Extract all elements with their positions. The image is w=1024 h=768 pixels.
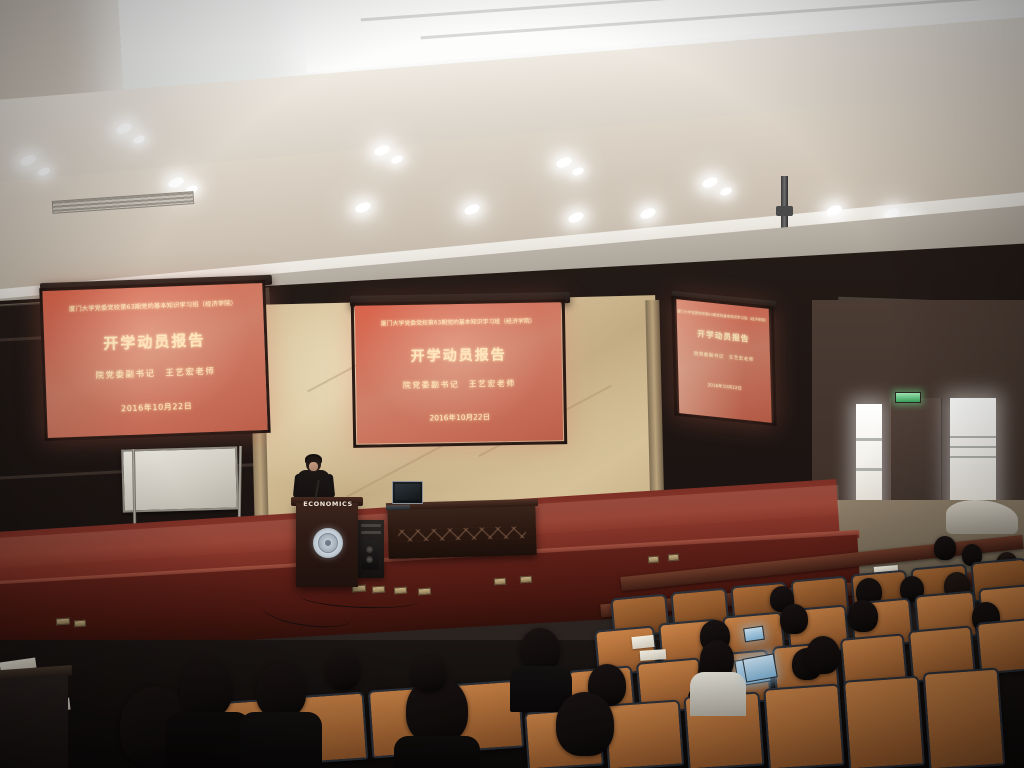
keyboard[interactable] (386, 505, 410, 511)
projector-pole-collar (776, 206, 793, 216)
audience-head (934, 536, 956, 560)
auditorium-seat[interactable] (976, 617, 1024, 674)
audience-head (556, 692, 614, 756)
slide-date-text: 2016年10月22日 (357, 410, 563, 425)
center-projection-screen: 厦门大学党委党校第63期党的基本知识学习班（经济学院） 开学动员报告 院党委副书… (355, 302, 563, 444)
audience-head (848, 600, 878, 632)
speaker-face (309, 462, 318, 471)
monitor-screen (395, 484, 420, 500)
window-mullion (950, 456, 996, 458)
auditorium-seat[interactable] (923, 667, 1006, 768)
audience-head (412, 656, 446, 692)
rack-slot (361, 531, 381, 534)
printed-handout (640, 649, 667, 661)
slide-title-text: 开学动员报告 (356, 343, 562, 367)
stage-floor-outlet (494, 578, 506, 586)
audience-shoulders (166, 712, 250, 768)
audience-head (806, 636, 840, 674)
auditorium-seat[interactable] (843, 675, 925, 768)
window-mullion (950, 446, 996, 448)
window-mullion (950, 436, 996, 438)
audience-shoulders (240, 712, 322, 768)
stage-floor-outlet (668, 554, 679, 562)
window-mullion (856, 438, 882, 441)
exit-sign-icon (895, 392, 921, 403)
audience-shoulders (394, 736, 480, 768)
slide-presenter-text: 院党委副书记 王艺宏老师 (678, 349, 771, 365)
slide-header-text: 厦门大学党委党校第63期党的基本知识学习班（经济学院） (43, 297, 263, 314)
mobile-whiteboard (121, 446, 239, 512)
slide-date-text: 2016年10月22日 (678, 379, 771, 395)
stage-floor-outlet (648, 556, 659, 564)
floor-loudspeaker (362, 540, 379, 570)
slide-header-text: 厦门大学党委党校第63期党的基本知识学习班（经济学院） (677, 309, 770, 324)
audience-shoulders (690, 672, 746, 716)
window-mullion (856, 468, 882, 471)
lecture-hall-photo: 厦门大学党委党校第63期党的基本知识学习班（经济学院） 开学动员报告 院党委副书… (0, 0, 1024, 768)
stage-floor-outlet (520, 576, 532, 584)
podium-label: ECONOMICS (299, 500, 357, 508)
audience-head (256, 664, 306, 718)
rack-slot (361, 524, 381, 527)
speaker-cone (366, 546, 373, 553)
auditorium-seat[interactable] (604, 699, 684, 768)
printed-handout (631, 635, 654, 649)
audience-head (326, 652, 360, 690)
slide-presenter-text: 院党委副书记 王艺宏老师 (356, 377, 562, 392)
slide-title-text: 开学动员报告 (677, 326, 770, 347)
stage-floor-outlet (74, 620, 86, 628)
slide-date-text: 2016年10月22日 (47, 398, 267, 417)
right-projection-screen: 厦门大学党委党校第63期党的基本知识学习班（经济学院） 开学动员报告 院党委副书… (676, 299, 771, 423)
slide-presenter-text: 院党委副书记 王艺宏老师 (45, 363, 265, 383)
speaker-cone (366, 556, 373, 563)
laptop-screen (743, 626, 765, 643)
audience-head (180, 660, 232, 718)
stage-floor-outlet (56, 618, 70, 626)
audience-head (780, 604, 808, 634)
side-table (0, 672, 68, 768)
auditorium-seat[interactable] (763, 683, 845, 768)
slide-header-text: 厦门大学党委党校第63期党的基本知识学习班（经济学院） (355, 315, 561, 328)
seal-center-emblem (325, 540, 331, 546)
left-projection-screen: 厦门大学党委党校第63期党的基本知识学习班（经济学院） 开学动员报告 院党委副书… (42, 283, 267, 438)
slide-title-text: 开学动员报告 (44, 327, 265, 356)
